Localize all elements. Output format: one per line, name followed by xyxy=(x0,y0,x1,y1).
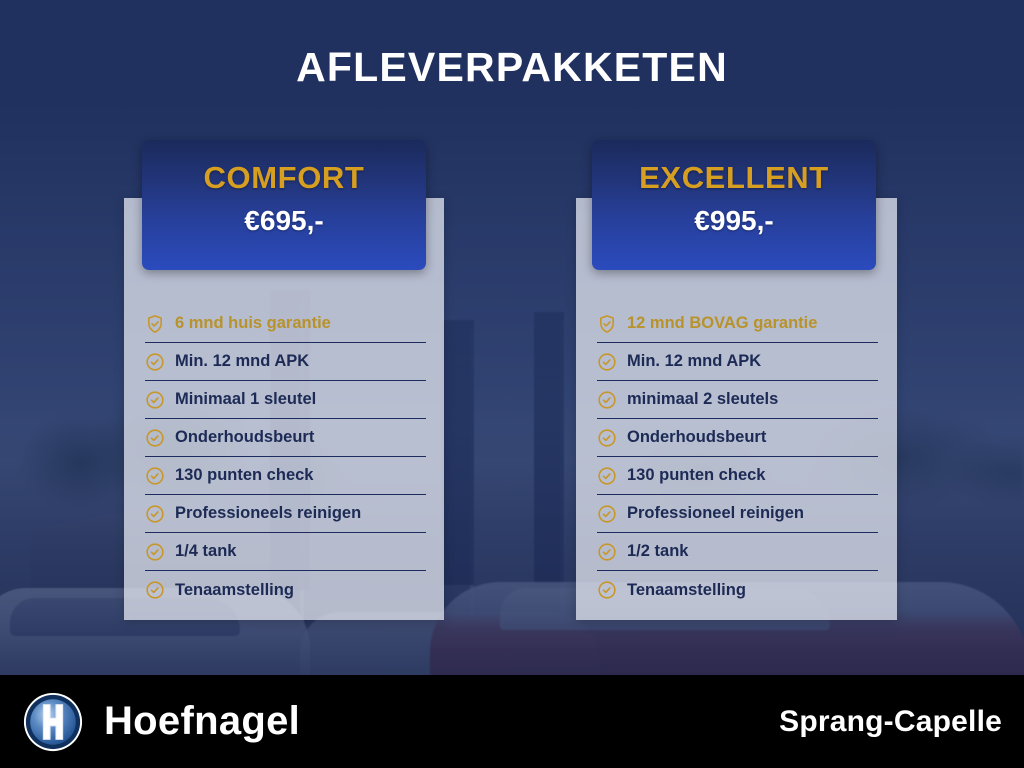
feature-row: Min. 12 mnd APK xyxy=(145,343,426,381)
feature-label: Onderhoudsbeurt xyxy=(175,428,314,447)
circle-check-icon xyxy=(597,352,617,372)
feature-label: minimaal 2 sleutels xyxy=(627,390,778,409)
feature-list-excellent: 12 mnd BOVAG garantie Min. 12 mnd APK mi… xyxy=(597,305,878,609)
feature-row: Minimaal 1 sleutel xyxy=(145,381,426,419)
feature-label: 12 mnd BOVAG garantie xyxy=(627,314,817,333)
circle-check-icon xyxy=(597,504,617,524)
circle-check-icon xyxy=(597,580,617,600)
feature-row: 1/4 tank xyxy=(145,533,426,571)
footer-bar: Hoefnagel Sprang-Capelle xyxy=(0,675,1024,768)
feature-row: 130 punten check xyxy=(145,457,426,495)
package-name: EXCELLENT xyxy=(592,160,876,196)
feature-label: Minimaal 1 sleutel xyxy=(175,390,316,409)
circle-check-icon xyxy=(145,428,165,448)
feature-row: Tenaamstelling xyxy=(145,571,426,609)
feature-label: 1/4 tank xyxy=(175,542,236,561)
feature-row: Min. 12 mnd APK xyxy=(597,343,878,381)
footer-location: Sprang-Capelle xyxy=(779,705,1002,739)
shield-check-icon xyxy=(597,314,617,334)
circle-check-icon xyxy=(145,580,165,600)
package-price: €695,- xyxy=(142,205,426,237)
feature-label: Onderhoudsbeurt xyxy=(627,428,766,447)
package-price: €995,- xyxy=(592,205,876,237)
feature-row: Onderhoudsbeurt xyxy=(145,419,426,457)
page-title: AFLEVERPAKKETEN xyxy=(0,44,1024,91)
circle-check-icon xyxy=(145,504,165,524)
feature-row: minimaal 2 sleutels xyxy=(597,381,878,419)
package-header-excellent[interactable]: EXCELLENT €995,- xyxy=(592,140,876,270)
feature-row: Professioneels reinigen xyxy=(145,495,426,533)
feature-label: 1/2 tank xyxy=(627,542,688,561)
circle-check-icon xyxy=(597,428,617,448)
feature-row: 6 mnd huis garantie xyxy=(145,305,426,343)
feature-label: Professioneels reinigen xyxy=(175,504,361,523)
hoefnagel-logo-icon xyxy=(22,691,84,753)
feature-row: 130 punten check xyxy=(597,457,878,495)
package-name: COMFORT xyxy=(142,160,426,196)
circle-check-icon xyxy=(597,542,617,562)
feature-label: 130 punten check xyxy=(627,466,765,485)
feature-row: Tenaamstelling xyxy=(597,571,878,609)
slide-stage: AFLEVERPAKKETEN COMFORT €695,- 6 mnd hui… xyxy=(0,0,1024,768)
footer-brand-name: Hoefnagel xyxy=(104,699,300,744)
circle-check-icon xyxy=(597,390,617,410)
circle-check-icon xyxy=(145,390,165,410)
feature-label: Tenaamstelling xyxy=(175,581,294,600)
shield-check-icon xyxy=(145,314,165,334)
feature-list-comfort: 6 mnd huis garantie Min. 12 mnd APK Mini… xyxy=(145,305,426,609)
feature-row: 1/2 tank xyxy=(597,533,878,571)
feature-row: Onderhoudsbeurt xyxy=(597,419,878,457)
feature-label: 6 mnd huis garantie xyxy=(175,314,331,333)
feature-label: Professioneel reinigen xyxy=(627,504,804,523)
package-header-comfort[interactable]: COMFORT €695,- xyxy=(142,140,426,270)
feature-row: 12 mnd BOVAG garantie xyxy=(597,305,878,343)
circle-check-icon xyxy=(145,352,165,372)
circle-check-icon xyxy=(597,466,617,486)
feature-label: Tenaamstelling xyxy=(627,581,746,600)
feature-label: Min. 12 mnd APK xyxy=(627,352,761,371)
feature-row: Professioneel reinigen xyxy=(597,495,878,533)
circle-check-icon xyxy=(145,466,165,486)
feature-label: Min. 12 mnd APK xyxy=(175,352,309,371)
feature-label: 130 punten check xyxy=(175,466,313,485)
circle-check-icon xyxy=(145,542,165,562)
